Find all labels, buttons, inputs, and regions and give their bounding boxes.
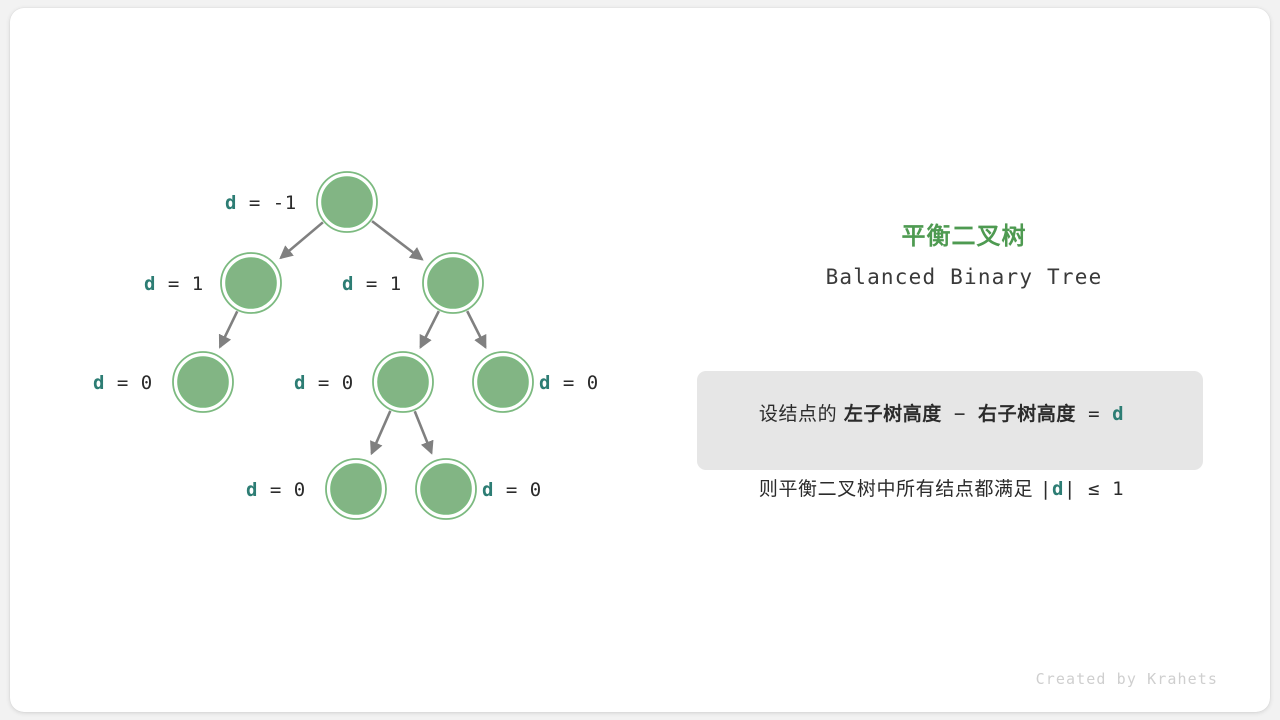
tree-node-circle [331,464,381,514]
tree-node-circle [226,258,276,308]
tree-edge [281,222,323,258]
node-label-variable: d [539,372,551,394]
node-balance-label: d = 0 [539,374,599,393]
tree-node [326,459,386,519]
tree-node [423,253,483,313]
tree-node [173,352,233,412]
definition-prefix: 设结点的 [759,403,844,425]
definition-variable-d: d [1112,403,1124,425]
definition-equals: = [1076,403,1112,425]
definition-line-1: 设结点的 左子树高度 − 右子树高度 = d [719,386,1181,443]
node-label-variable: d [93,372,105,394]
node-balance-label: d = 0 [246,481,306,500]
node-label-value: = 0 [551,372,599,394]
binary-tree-graphic [0,0,1280,720]
tree-edge [415,411,432,453]
node-balance-label: d = 1 [144,275,204,294]
node-label-value: = 1 [156,273,204,295]
node-label-variable: d [246,479,258,501]
node-label-variable: d [294,372,306,394]
condition-variable-d: d [1052,478,1064,500]
node-label-value: = -1 [237,192,297,214]
tree-nodes [173,172,533,519]
tree-node [473,352,533,412]
node-label-variable: d [342,273,354,295]
node-balance-label: d = 0 [294,374,354,393]
node-label-variable: d [144,273,156,295]
condition-relation: ≤ 1 [1076,478,1124,500]
node-label-variable: d [225,192,237,214]
node-label-value: = 0 [306,372,354,394]
credit-text: Created by Krahets [1036,670,1218,688]
node-balance-label: d = 0 [482,481,542,500]
tree-edge [372,221,422,259]
info-panel: 平衡二叉树 Balanced Binary Tree [660,222,1240,289]
definition-left-subtree-height: 左子树高度 [844,403,942,425]
tree-node [373,352,433,412]
tree-node-circle [322,177,372,227]
tree-edge [220,311,237,347]
tree-edge [372,411,391,453]
node-label-variable: d [482,479,494,501]
tree-node-circle [178,357,228,407]
tree-node [221,253,281,313]
tree-node [416,459,476,519]
definition-box: 设结点的 左子树高度 − 右子树高度 = d 则平衡二叉树中所有结点都满足 |d… [697,371,1203,470]
node-balance-label: d = -1 [225,194,297,213]
abs-bar-left: | [1040,478,1052,500]
page-title: 平衡二叉树 [688,222,1240,251]
node-balance-label: d = 0 [93,374,153,393]
node-label-value: = 0 [494,479,542,501]
tree-edges [220,221,485,453]
tree-node [317,172,377,232]
tree-node-circle [478,357,528,407]
page-subtitle: Balanced Binary Tree [688,265,1240,289]
node-label-value: = 0 [105,372,153,394]
condition-prefix: 则平衡二叉树中所有结点都满足 [759,478,1040,500]
definition-line-2: 则平衡二叉树中所有结点都满足 |d| ≤ 1 [719,461,1181,518]
abs-bar-right: | [1064,478,1076,500]
tree-node-circle [378,357,428,407]
definition-minus: − [942,403,978,425]
tree-edge [421,311,439,347]
diagram-canvas: d = -1d = 1d = 1d = 0d = 0d = 0d = 0d = … [0,0,1280,720]
node-label-value: = 1 [354,273,402,295]
tree-node-circle [421,464,471,514]
definition-right-subtree-height: 右子树高度 [978,403,1076,425]
tree-edge [467,311,485,347]
tree-node-circle [428,258,478,308]
node-label-value: = 0 [258,479,306,501]
node-balance-label: d = 1 [342,275,402,294]
